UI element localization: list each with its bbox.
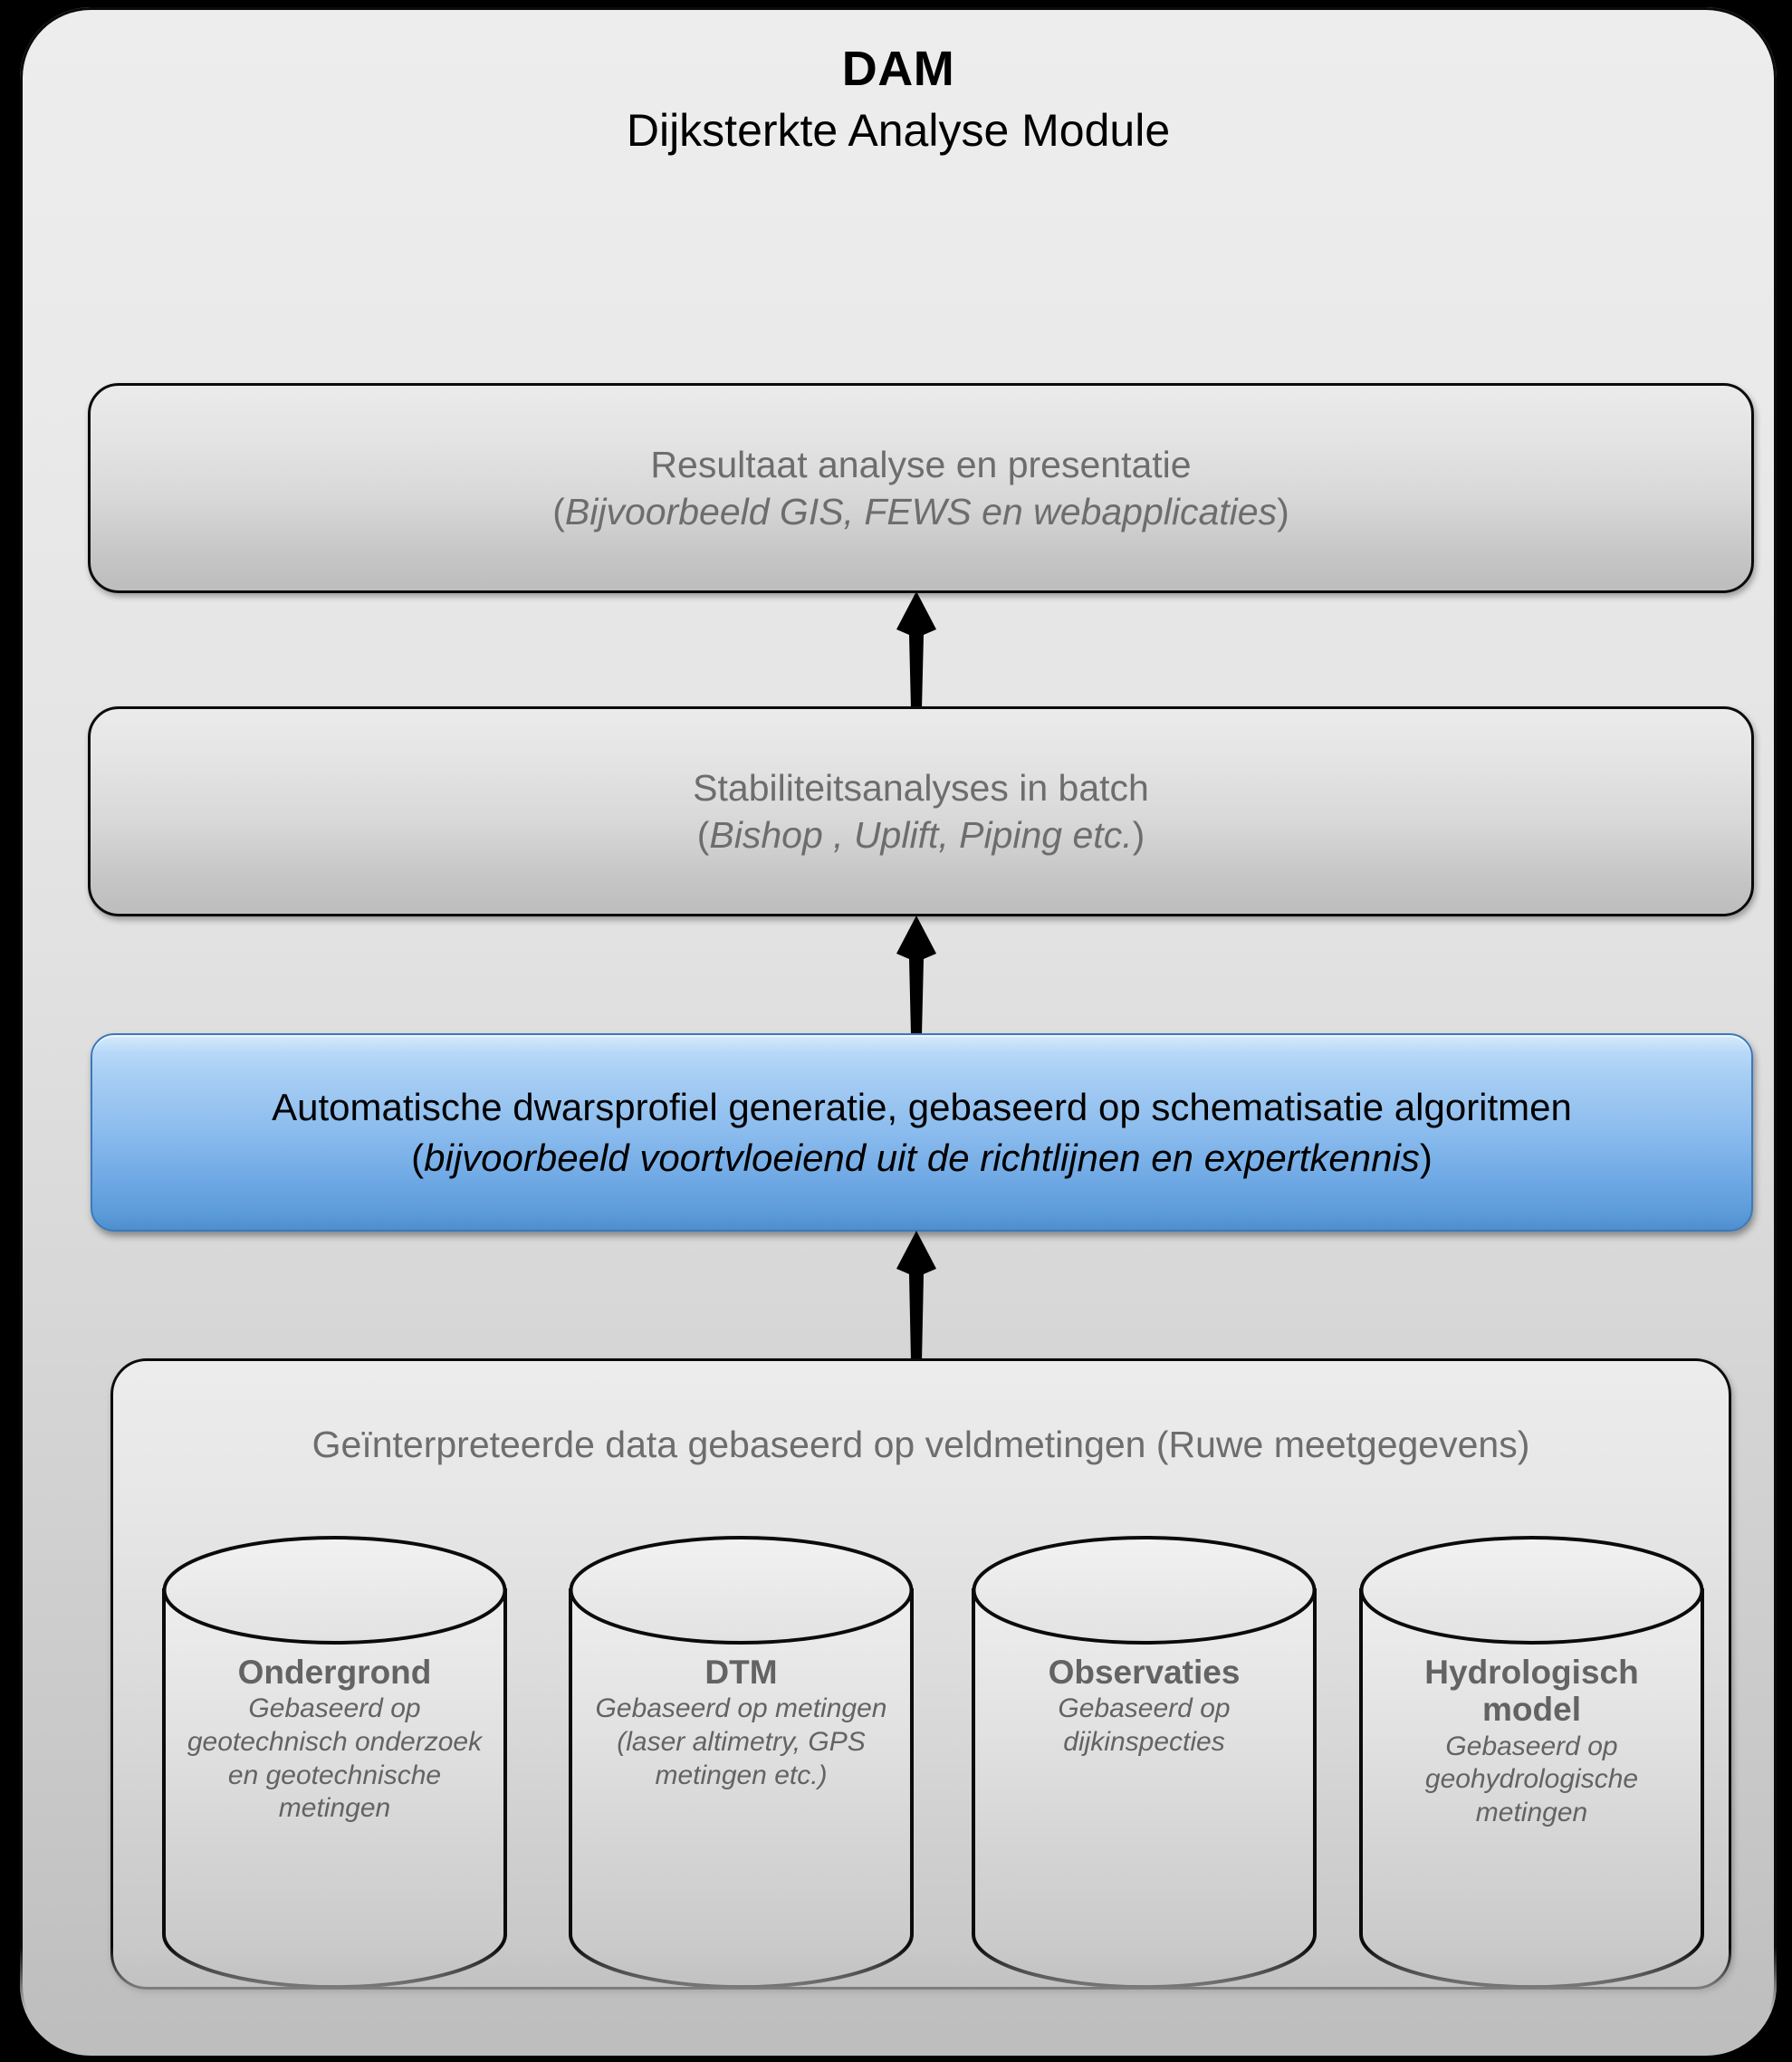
data-source-cylinder-observaties[interactable]: Observaties Gebaseerd op dijkinspecties [970, 1536, 1318, 1989]
diagram-canvas: DAM Dijksterkte Analyse Module Resultaat… [0, 0, 1792, 2062]
cylinder-name: Hydrologisch model [1381, 1654, 1682, 1729]
cylinder-description: Gebaseerd op geotechnisch onderzoek en g… [184, 1693, 485, 1825]
blue-box-example: bijvoorbeeld voortvloeiend uit de richtl… [424, 1136, 1420, 1179]
cylinder-text-block: Hydrologisch model Gebaseerd op geohydro… [1381, 1654, 1682, 1830]
blue-box-line1: Automatische dwarsprofiel generatie, geb… [272, 1082, 1572, 1133]
cylinder-name: Observaties [993, 1654, 1295, 1691]
result-box-example: Bijvoorbeeld GIS, FEWS en webapplicaties [565, 491, 1277, 532]
result-paren-open: ( [552, 491, 565, 532]
blue-paren-open: ( [411, 1136, 424, 1179]
batch-box-example: Bishop , Uplift, Piping etc. [709, 814, 1132, 856]
cylinder-text-block: Ondergrond Gebaseerd op geotechnisch ond… [184, 1654, 485, 1826]
blue-box-line2: (bijvoorbeeld voortvloeiend uit de richt… [411, 1133, 1433, 1184]
arrow-batch-to-result [880, 591, 953, 709]
cylinder-description: Gebaseerd op dijkinspecties [993, 1693, 1295, 1759]
result-box-line1: Resultaat analyse en presentatie [650, 441, 1191, 488]
cylinder-shape-icon [970, 1536, 1318, 1989]
cylinder-name: Ondergrond [184, 1654, 485, 1691]
process-box-automatic-cross-section-generation[interactable]: Automatische dwarsprofiel generatie, geb… [91, 1033, 1753, 1232]
title-block: DAM Dijksterkte Analyse Module [20, 42, 1777, 158]
cylinder-description: Gebaseerd op geohydrologische metingen [1381, 1731, 1682, 1830]
cylinder-text-block: DTM Gebaseerd op metingen (laser altimet… [590, 1654, 892, 1792]
result-box-line2: (Bijvoorbeeld GIS, FEWS en webapplicatie… [552, 488, 1289, 535]
data-source-cylinder-dtm[interactable]: DTM Gebaseerd op metingen (laser altimet… [567, 1536, 915, 1989]
cylinder-text-block: Observaties Gebaseerd op dijkinspecties [993, 1654, 1295, 1760]
process-box-stability-batch[interactable]: Stabiliteitsanalyses in batch (Bishop , … [88, 706, 1754, 916]
batch-box-line1: Stabiliteitsanalyses in batch [693, 764, 1149, 811]
data-source-cylinder-hydrologisch-model[interactable]: Hydrologisch model Gebaseerd op geohydro… [1357, 1536, 1706, 1989]
blue-paren-close: ) [1420, 1136, 1433, 1179]
process-box-result-analysis[interactable]: Resultaat analyse en presentatie (Bijvoo… [88, 383, 1754, 593]
data-source-cylinder-ondergrond[interactable]: Ondergrond Gebaseerd op geotechnisch ond… [160, 1536, 509, 1989]
cylinder-name: DTM [590, 1654, 892, 1691]
arrow-generation-to-batch [880, 916, 953, 1035]
result-paren-close: ) [1277, 491, 1289, 532]
page-title: DAM [20, 42, 1777, 96]
data-container-header: Geïnterpreteerde data gebaseerd op veldm… [113, 1423, 1729, 1467]
cylinder-description: Gebaseerd op metingen (laser altimetry, … [590, 1693, 892, 1792]
batch-paren-close: ) [1133, 814, 1145, 856]
page-subtitle: Dijksterkte Analyse Module [20, 103, 1777, 158]
dam-outer-frame: DAM Dijksterkte Analyse Module Resultaat… [20, 7, 1777, 2056]
batch-box-line2: (Bishop , Uplift, Piping etc.) [697, 811, 1145, 858]
batch-paren-open: ( [697, 814, 710, 856]
arrow-data-to-generation [880, 1231, 953, 1362]
